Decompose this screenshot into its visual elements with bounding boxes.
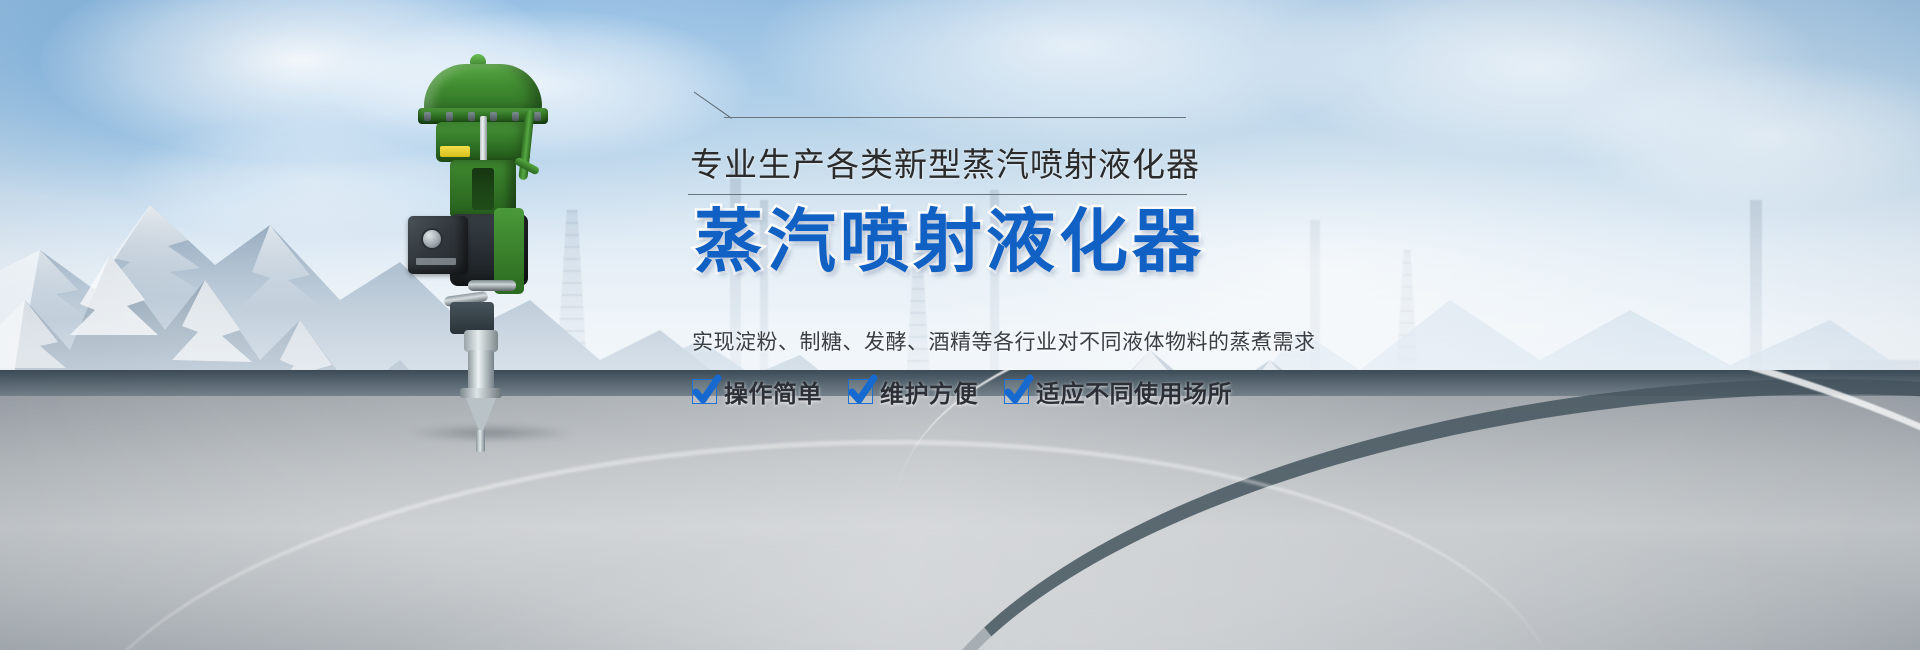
- valve-bolt: [468, 112, 475, 121]
- highway: [0, 370, 1920, 650]
- banner-copy: 专业生产各类新型蒸汽喷射液化器 蒸汽喷射液化器 实现淀粉、制糖、发酵、酒精等各行…: [686, 108, 1326, 409]
- banner-title: 蒸汽喷射液化器: [694, 203, 1326, 280]
- checkmark-icon: [692, 379, 717, 404]
- checkmark-icon: [1004, 379, 1029, 404]
- valve-bolt: [424, 112, 431, 121]
- divider-rule: [688, 194, 1187, 195]
- valve-bolt: [446, 112, 453, 121]
- feature-item: 维护方便: [848, 374, 978, 409]
- feature-label: 适应不同使用场所: [1036, 374, 1232, 409]
- product-image-control-valve: [398, 58, 578, 438]
- decorative-horizontal-stroke: [724, 117, 1186, 118]
- valve-yellow-label: [440, 146, 470, 157]
- valve-bolt: [534, 112, 541, 121]
- hero-banner: 专业生产各类新型蒸汽喷射液化器 蒸汽喷射液化器 实现淀粉、制糖、发酵、酒精等各行…: [0, 0, 1920, 650]
- valve-bolt: [512, 112, 519, 121]
- valve-nozzle-top: [464, 330, 498, 352]
- decorative-top-line: [686, 108, 1186, 152]
- valve-stem-rod: [480, 116, 487, 166]
- valve-bolt: [490, 112, 497, 121]
- valve-nozzle-tip: [476, 430, 485, 452]
- feature-label: 维护方便: [880, 374, 978, 409]
- feature-item: 操作简单: [692, 374, 822, 409]
- valve-nameplate: [416, 258, 456, 265]
- banner-description: 实现淀粉、制糖、发酵、酒精等各行业对不同液体物料的蒸煮需求: [692, 326, 1326, 356]
- checkmark-icon: [848, 379, 873, 404]
- valve-yoke-slot: [472, 168, 494, 210]
- valve-pressure-gauge: [421, 228, 443, 250]
- feature-label: 操作简单: [724, 374, 822, 409]
- valve-nozzle-flange: [460, 388, 502, 398]
- feature-list: 操作简单 维护方便 适应不同使用场所: [692, 374, 1326, 409]
- feature-item: 适应不同使用场所: [1004, 374, 1232, 409]
- valve-air-tube: [468, 280, 516, 291]
